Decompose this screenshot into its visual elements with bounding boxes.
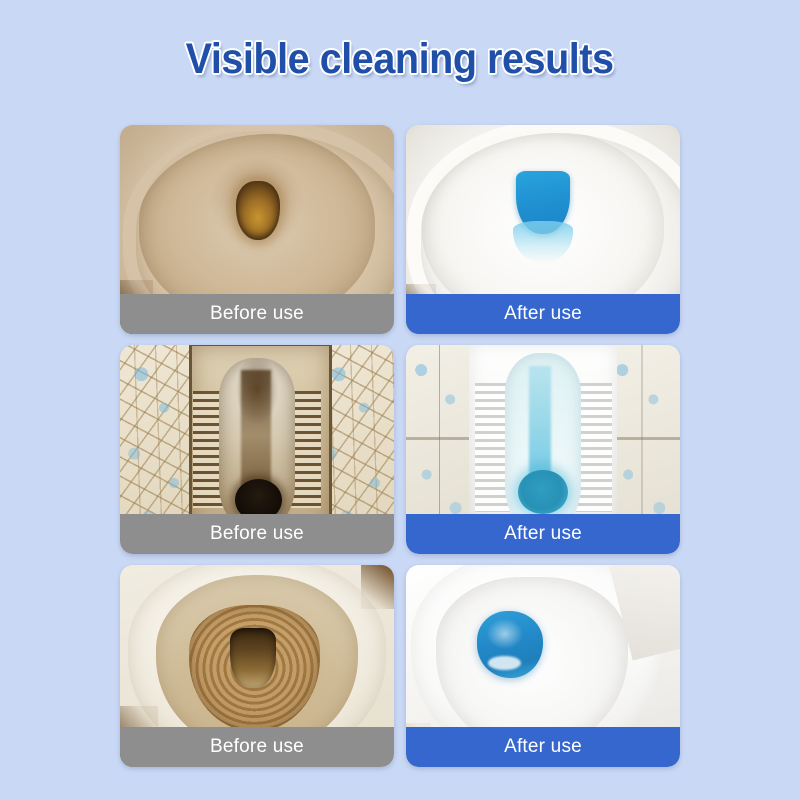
comparison-row: Before use After use — [120, 345, 680, 554]
after-label-3: After use — [406, 727, 680, 767]
after-card-1[interactable]: After use — [406, 125, 680, 334]
before-label-1: Before use — [120, 294, 394, 334]
after-label-2: After use — [406, 514, 680, 554]
after-label-1: After use — [406, 294, 680, 334]
blue-cleaner-pool — [518, 470, 567, 514]
before-card-1[interactable]: Before use — [120, 125, 394, 334]
before-card-2[interactable]: Before use — [120, 345, 394, 554]
comparison-row: Before use After use — [120, 125, 680, 334]
title-bar: Visible cleaning results — [0, 0, 800, 118]
comparison-grid: Before use After use — [120, 125, 680, 767]
pan-ribs-right — [576, 383, 612, 513]
comparison-row: Before use After use — [120, 565, 680, 767]
before-label-2: Before use — [120, 514, 394, 554]
page-title: Visible cleaning results — [186, 35, 614, 84]
after-card-3[interactable]: After use — [406, 565, 680, 767]
drain-hole — [230, 628, 277, 689]
before-card-3[interactable]: Before use — [120, 565, 394, 767]
photo-corner-shadow-top — [361, 565, 394, 609]
before-label-3: Before use — [120, 727, 394, 767]
after-card-2[interactable]: After use — [406, 345, 680, 554]
blue-streak — [529, 366, 551, 487]
water-highlight — [488, 656, 521, 670]
